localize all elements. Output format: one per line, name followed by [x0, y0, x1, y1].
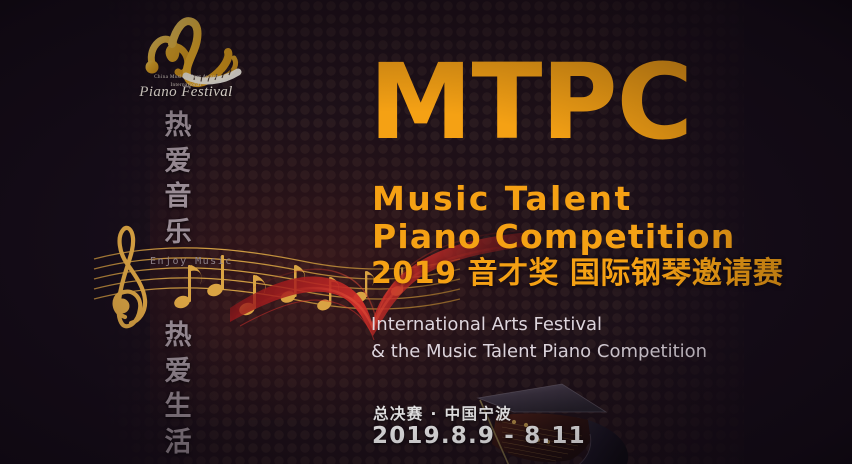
slogan-life-char-3: 生	[148, 389, 208, 425]
slogan-life-char-4: 活	[148, 425, 208, 461]
slogan-music-english: Enjoy Music	[150, 256, 208, 267]
slogan-music-char-1: 热	[148, 108, 208, 144]
event-dates: 2019.8.9 - 8.11	[372, 423, 586, 449]
slogan-music-char-4: 乐	[148, 215, 208, 251]
subtitle-line-piano-competition: Piano Competition	[372, 220, 735, 253]
venue-text: 总决赛 · 中国宁波	[373, 402, 512, 424]
slogan-life-char-1: 热	[148, 318, 208, 354]
poster-canvas: China Music Talent Award International P…	[0, 0, 852, 464]
logo-subtitle-line1: China Music Talent Award	[120, 74, 252, 82]
slogan-music-char-3: 音	[148, 179, 208, 215]
description-block: International Arts Festival & the Music …	[371, 311, 791, 366]
main-content: MTPC Music Talent Piano Competition 2019…	[369, 0, 799, 464]
slogan-music-char-2: 爱	[148, 144, 208, 180]
subtitle-line-music-talent: Music Talent	[372, 182, 633, 215]
slogan-enjoy-music: 热 爱 音 乐 Enjoy Music	[148, 108, 208, 267]
slogan-enjoy-your-life: 热 爱 生 活 Enjoy your life	[148, 318, 208, 461]
logo-wordmark: Piano Festival	[118, 84, 254, 101]
page-title-acronym: MTPC	[369, 50, 692, 154]
slogan-life-char-2: 爱	[148, 354, 208, 390]
description-line-2: & the Music Talent Piano Competition	[371, 338, 791, 365]
chinese-title: 2019 音才奖 国际钢琴邀请赛	[371, 257, 783, 291]
description-line-1: International Arts Festival	[371, 311, 791, 338]
